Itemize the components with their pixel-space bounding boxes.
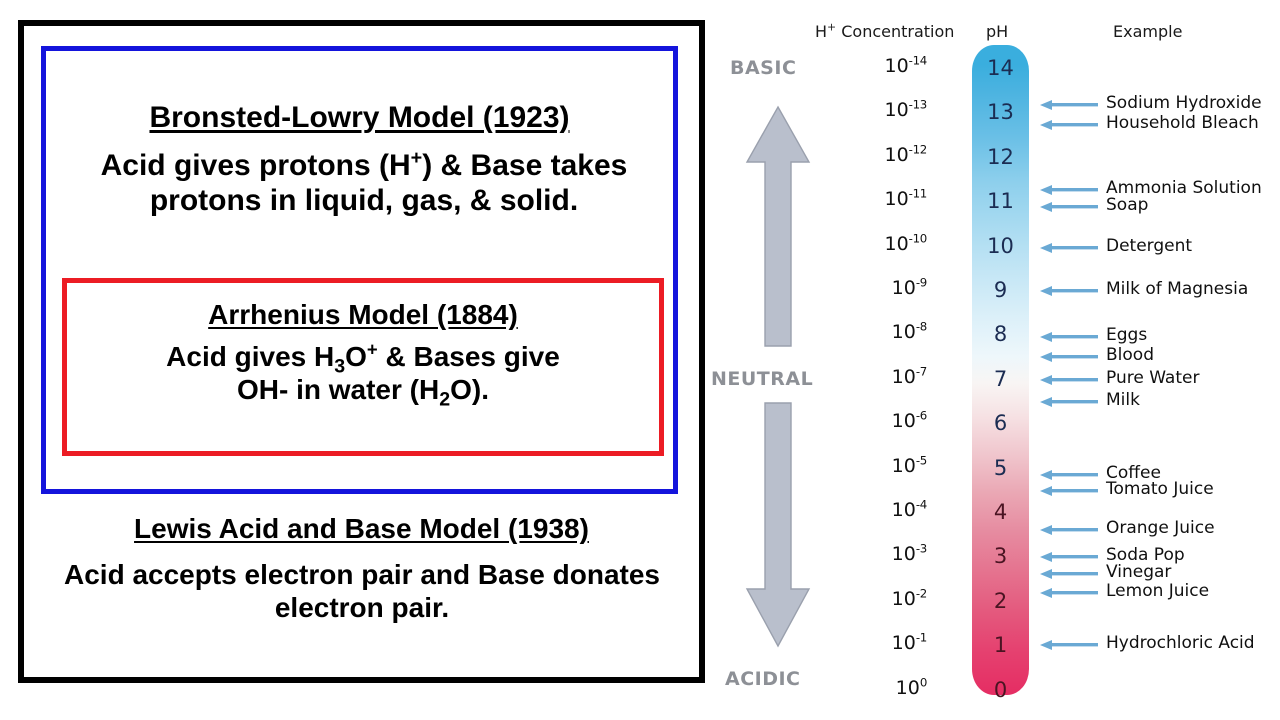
concentration-base: 10 <box>892 410 916 432</box>
left-arrow-icon <box>1040 183 1098 201</box>
ph-value: 0 <box>972 678 1029 702</box>
arrhenius-line1: Acid gives H3O+ & Bases give <box>85 340 641 373</box>
example-label: Milk of Magnesia <box>1106 279 1248 299</box>
slide-root: Bronsted-Lowry Model (1923) Acid gives p… <box>0 0 1280 720</box>
ph-value: 6 <box>972 411 1029 435</box>
left-arrow-icon <box>1040 200 1098 218</box>
left-arrow-icon <box>1040 484 1098 502</box>
concentration-base: 10 <box>892 321 916 343</box>
ph-value: 10 <box>972 234 1029 258</box>
arrhenius-line2-b: O). <box>450 374 489 405</box>
column-header-example: Example <box>1113 22 1182 41</box>
ph-value: 8 <box>972 322 1029 346</box>
column-header-ph: pH <box>986 22 1008 41</box>
arrhenius-plus-charge: + <box>367 339 378 360</box>
example-label: Vinegar <box>1106 562 1171 582</box>
arrhenius-line1-b: & Bases give <box>378 341 560 372</box>
ph-value: 14 <box>972 56 1029 80</box>
concentration-h: H <box>815 22 827 41</box>
bronsted-line1-b: ) & Base <box>422 149 542 182</box>
left-arrow-icon <box>1040 350 1098 368</box>
left-arrow-icon <box>1040 638 1098 656</box>
arrhenius-body: Acid gives H3O+ & Bases give OH- in wate… <box>85 340 641 406</box>
arrhenius-panel: Arrhenius Model (1884) Acid gives H3O+ &… <box>62 278 664 456</box>
left-arrow-icon <box>1040 523 1098 541</box>
ph-value: 12 <box>972 145 1029 169</box>
concentration-value: 10-11 <box>855 188 927 210</box>
concentration-base: 10 <box>884 99 908 121</box>
concentration-value: 10-3 <box>855 543 927 565</box>
bronsted-line1-a: Acid gives protons (H <box>101 149 411 182</box>
example-label: Milk <box>1106 390 1140 410</box>
concentration-value: 10-13 <box>855 99 927 121</box>
ph-value: 13 <box>972 100 1029 124</box>
bronsted-lowry-body: Acid gives protons (H+) & Base takes pro… <box>74 148 654 219</box>
concentration-exponent: -6 <box>916 409 927 423</box>
basic-up-arrow-icon <box>743 104 813 354</box>
concentration-base: 10 <box>892 543 916 565</box>
acidic-down-arrow-icon <box>743 399 813 654</box>
left-arrow-icon <box>1040 395 1098 413</box>
concentration-base: 10 <box>892 588 916 610</box>
ph-value: 1 <box>972 633 1029 657</box>
ph-scale-diagram: H+ Concentration pH Example BASIC NEUTRA… <box>705 0 1280 720</box>
concentration-value: 10-2 <box>855 588 927 610</box>
concentration-base: 10 <box>892 277 916 299</box>
lewis-body: Acid accepts electron pair and Base dona… <box>48 558 676 624</box>
concentration-value: 10-9 <box>855 277 927 299</box>
example-label: Eggs <box>1106 325 1147 345</box>
left-arrow-icon <box>1040 373 1098 391</box>
concentration-value: 10-1 <box>855 632 927 654</box>
left-arrow-icon <box>1040 330 1098 348</box>
example-label: Sodium Hydroxide <box>1106 93 1262 113</box>
example-label: Soap <box>1106 195 1148 215</box>
example-label: Pure Water <box>1106 368 1199 388</box>
left-arrow-icon <box>1040 586 1098 604</box>
concentration-exponent: -5 <box>916 453 927 467</box>
example-label: Household Bleach <box>1106 113 1259 133</box>
ph-value: 4 <box>972 500 1029 524</box>
concentration-value: 10-6 <box>855 410 927 432</box>
concentration-exponent: -9 <box>916 276 927 290</box>
concentration-value: 10-5 <box>855 455 927 477</box>
concentration-exponent: -12 <box>909 142 927 156</box>
left-arrow-icon <box>1040 284 1098 302</box>
column-header-concentration: H+ Concentration <box>815 22 954 41</box>
example-label: Lemon Juice <box>1106 581 1209 601</box>
concentration-plus: + <box>827 21 836 34</box>
bronsted-line3: solid. <box>500 184 578 217</box>
label-acidic: ACIDIC <box>725 668 801 690</box>
lewis-title: Lewis Acid and Base Model (1938) <box>24 513 699 544</box>
concentration-value: 10-7 <box>855 366 927 388</box>
concentration-exponent: 0 <box>920 675 927 689</box>
arrhenius-line1-a: Acid gives H <box>166 341 334 372</box>
left-arrow-icon <box>1040 98 1098 116</box>
concentration-exponent: -10 <box>909 231 927 245</box>
label-basic: BASIC <box>730 57 796 79</box>
concentration-value: 10-12 <box>855 144 927 166</box>
concentration-value: 100 <box>855 677 927 699</box>
arrhenius-line2: OH- in water (H2O). <box>85 373 641 406</box>
lewis-line1: Acid accepts electron pair and Base <box>64 559 545 590</box>
concentration-exponent: -11 <box>909 187 927 201</box>
concentration-exponent: -4 <box>916 498 927 512</box>
arrhenius-line1-mid: O <box>345 341 367 372</box>
left-arrow-icon <box>1040 550 1098 568</box>
concentration-exponent: -3 <box>916 542 927 556</box>
bronsted-plus-charge: + <box>411 147 423 169</box>
bronsted-lowry-title: Bronsted-Lowry Model (1923) <box>46 101 673 135</box>
concentration-base: 10 <box>892 632 916 654</box>
left-arrow-icon <box>1040 567 1098 585</box>
concentration-exponent: -7 <box>916 364 927 378</box>
ph-value: 9 <box>972 278 1029 302</box>
concentration-value: 10-8 <box>855 321 927 343</box>
concentration-base: 10 <box>884 188 908 210</box>
concentration-base: 10 <box>884 55 908 77</box>
ph-value: 2 <box>972 589 1029 613</box>
concentration-base: 10 <box>892 366 916 388</box>
concentration-value: 10-10 <box>855 233 927 255</box>
arrhenius-line2-a: OH- in water (H <box>237 374 439 405</box>
example-label: Hydrochloric Acid <box>1106 633 1255 653</box>
example-label: Tomato Juice <box>1106 479 1214 499</box>
concentration-word: Concentration <box>836 22 954 41</box>
example-label: Orange Juice <box>1106 518 1215 538</box>
example-label: Detergent <box>1106 236 1192 256</box>
concentration-value: 10-14 <box>855 55 927 77</box>
left-arrow-icon <box>1040 241 1098 259</box>
ph-value: 3 <box>972 544 1029 568</box>
ph-value: 7 <box>972 367 1029 391</box>
left-arrow-icon <box>1040 118 1098 136</box>
acid-base-models-panel: Bronsted-Lowry Model (1923) Acid gives p… <box>18 20 705 683</box>
concentration-exponent: -13 <box>909 98 927 112</box>
arrhenius-sub-2: 2 <box>439 389 450 411</box>
bronsted-lowry-panel: Bronsted-Lowry Model (1923) Acid gives p… <box>41 46 678 494</box>
ph-value: 11 <box>972 189 1029 213</box>
concentration-exponent: -14 <box>909 54 927 68</box>
concentration-base: 10 <box>896 677 920 699</box>
concentration-base: 10 <box>884 144 908 166</box>
example-label: Blood <box>1106 345 1154 365</box>
concentration-exponent: -2 <box>916 586 927 600</box>
label-neutral: NEUTRAL <box>711 368 813 390</box>
concentration-exponent: -8 <box>916 320 927 334</box>
concentration-exponent: -1 <box>916 631 927 645</box>
concentration-base: 10 <box>892 499 916 521</box>
concentration-base: 10 <box>884 233 908 255</box>
ph-value: 5 <box>972 456 1029 480</box>
concentration-value: 10-4 <box>855 499 927 521</box>
arrhenius-title: Arrhenius Model (1884) <box>67 299 659 330</box>
concentration-base: 10 <box>892 455 916 477</box>
